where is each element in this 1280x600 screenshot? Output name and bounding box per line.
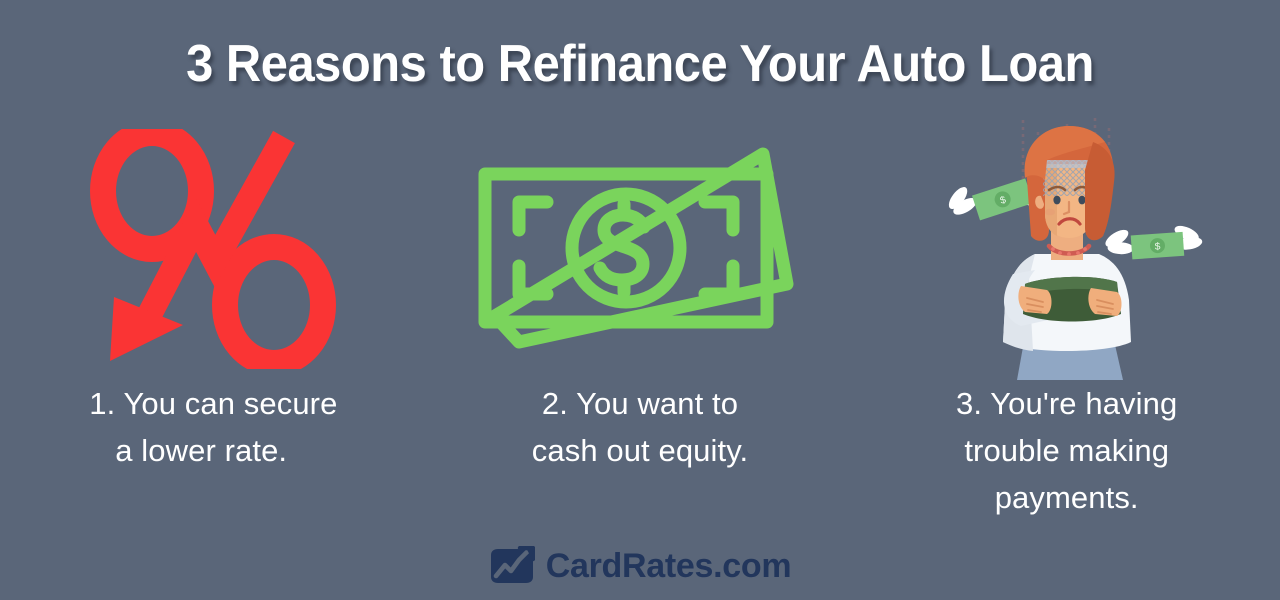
reasons-row: 1. You can secure a lower rate. [0, 118, 1280, 538]
logo-text: CardRates.com [546, 549, 792, 583]
reason-caption-2: 2. You want to cash out equity. [532, 380, 748, 474]
site-logo[interactable]: CardRates.com [0, 546, 1280, 586]
chart-uptrend-logo-icon [489, 546, 535, 586]
infographic-canvas: 3 Reasons to Refinance Your Auto Loan 1.… [0, 0, 1280, 600]
reason-column-1: 1. You can secure a lower rate. [0, 118, 427, 474]
percent-down-arrow-icon [0, 118, 427, 380]
reason-caption-3: 3. You're having trouble making payments… [956, 380, 1177, 521]
reason-column-3: $ $ [853, 118, 1280, 521]
page-title: 3 Reasons to Refinance Your Auto Loan [38, 34, 1241, 94]
worried-woman-empty-wallet-illustration: $ $ [853, 118, 1280, 380]
reason-caption-1: 1. You can secure a lower rate. [89, 380, 337, 474]
cash-bills-dollar-icon [427, 118, 854, 380]
reason-column-2: 2. You want to cash out equity. [427, 118, 854, 474]
